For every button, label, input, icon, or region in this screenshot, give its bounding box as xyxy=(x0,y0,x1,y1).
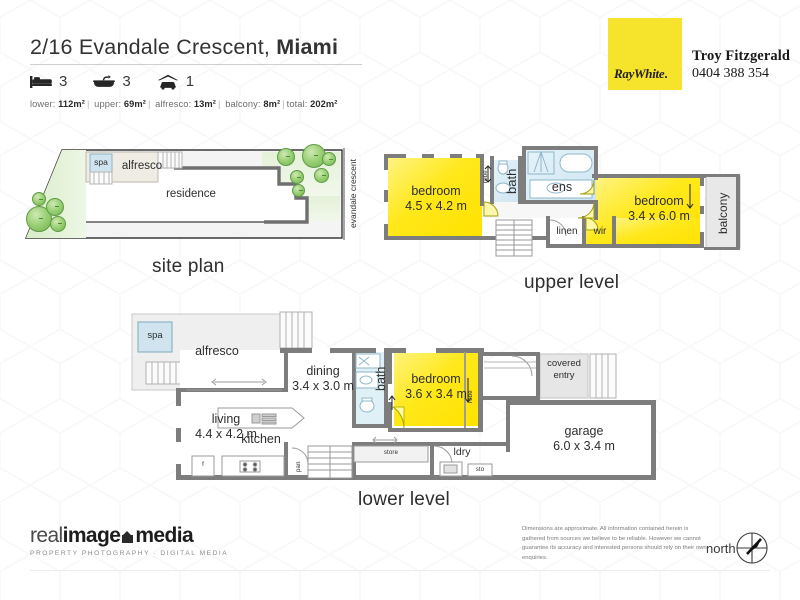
lower-level-caption: lower level xyxy=(358,489,450,511)
feature-carspaces: 1 xyxy=(157,73,194,90)
wir-label: wir xyxy=(584,226,616,238)
dining-label: dining 3.4 x 3.0 m xyxy=(288,364,358,394)
upper-bedroom-second-name: bedroom xyxy=(634,194,683,208)
tree-icon xyxy=(50,216,66,232)
upper-bedroom-main-label: bedroom 4.5 x 4.2 m xyxy=(396,184,476,214)
raywhite-logo-text: RayWhite. xyxy=(614,66,667,82)
photographer-logo: realimagemedia PROPERTY PHOTOGRAPHY · DI… xyxy=(30,525,228,557)
dining-name: dining xyxy=(306,364,339,378)
upper-bedroom-second-dims: 3.4 x 6.0 m xyxy=(628,209,690,223)
raywhite-wordmark: RayWhite xyxy=(614,66,664,81)
feature-bedrooms: 3 xyxy=(30,73,67,90)
tree-icon xyxy=(290,170,304,184)
garage-label: garage 6.0 x 3.4 m xyxy=(540,424,628,454)
feature-icons: 3 3 1 xyxy=(30,72,370,92)
upper-bedroom-main-dims: 4.5 x 4.2 m xyxy=(405,199,467,213)
floorplan-page: 2/16 Evandale Crescent, Miami 3 xyxy=(0,0,800,600)
kitchen-label: kitchen xyxy=(226,432,296,447)
linen-label: linen xyxy=(548,226,586,238)
store-small-label: sto xyxy=(468,467,492,474)
disclaimer-text: Dimensions are approximate. All informat… xyxy=(522,525,712,563)
lower-spa-label: spa xyxy=(138,330,172,341)
covered-entry-line1: covered xyxy=(547,358,581,369)
bathrooms-count: 3 xyxy=(122,73,130,90)
upper-bath-label: bath xyxy=(504,160,518,202)
dining-dims: 3.4 x 3.0 m xyxy=(292,379,354,393)
store-label: store xyxy=(354,450,428,457)
balcony-label: balcony xyxy=(716,182,730,244)
north-indicator: north xyxy=(706,530,770,566)
area-alfresco-label: alfresco: xyxy=(155,99,191,109)
logo-image: image xyxy=(63,524,121,547)
tree-icon xyxy=(32,192,46,206)
tree-icon xyxy=(46,198,64,216)
site-room-residence: residence xyxy=(156,188,226,202)
area-balcony-label: balcony: xyxy=(225,99,260,109)
upper-level-plan: bedroom 4.5 x 4.2 m bedroom 3.4 x 6.0 m … xyxy=(378,140,768,270)
area-upper-label: upper: xyxy=(94,99,121,109)
carspaces-count: 1 xyxy=(186,73,194,90)
upper-bedroom-main-name: bedroom xyxy=(411,184,460,198)
lower-level-drawing xyxy=(116,306,666,486)
tree-icon xyxy=(292,184,305,197)
footer-divider xyxy=(30,570,770,571)
fridge-label: f xyxy=(192,462,214,469)
street-label-evandale: evandale crescent xyxy=(348,146,358,242)
site-plan: spa alfresco residence evandale crescent xyxy=(24,140,364,250)
title-divider xyxy=(30,64,362,65)
realimage-media-wordmark: realimagemedia xyxy=(30,525,228,546)
site-room-spa: spa xyxy=(90,157,112,167)
area-total-label: total: xyxy=(287,99,308,109)
agent-name: Troy Fitzgerald xyxy=(692,48,790,65)
raywhite-logo-dot: . xyxy=(664,66,667,81)
covered-entry-label: covered entry xyxy=(538,358,590,383)
area-sep-3: | xyxy=(216,99,223,109)
garage-name: garage xyxy=(565,424,604,438)
bathtub-icon xyxy=(93,74,115,89)
photographer-tagline: PROPERTY PHOTOGRAPHY · DIGITAL MEDIA xyxy=(30,550,228,557)
logo-media: media xyxy=(135,524,193,547)
upper-level-caption: upper level xyxy=(524,272,619,294)
covered-entry-line2: entry xyxy=(553,370,574,381)
site-plan-caption: site plan xyxy=(152,256,225,278)
lower-bedroom-label: bedroom 3.6 x 3.4 m xyxy=(400,372,472,402)
area-total-value: 202m² xyxy=(310,99,337,109)
ensuite-label: ens xyxy=(542,180,582,195)
page-title: 2/16 Evandale Crescent, Miami xyxy=(30,36,370,60)
area-upper-value: 69m² xyxy=(124,99,146,109)
bedrooms-count: 3 xyxy=(59,73,67,90)
lower-bedroom-dims: 3.6 x 3.4 m xyxy=(405,387,467,401)
lower-bath-label: bath xyxy=(374,356,388,402)
tree-icon xyxy=(314,168,329,183)
address-suburb: Miami xyxy=(276,35,338,59)
garage-dims: 6.0 x 3.4 m xyxy=(553,439,615,453)
car-garage-icon xyxy=(157,74,179,90)
area-lower-label: lower: xyxy=(30,99,55,109)
lower-robe-label: robe xyxy=(468,386,478,408)
area-lower-value: 112m² xyxy=(58,99,85,109)
bed-icon xyxy=(30,75,52,89)
area-alfresco-value: 13m² xyxy=(194,99,216,109)
site-room-alfresco: alfresco xyxy=(114,160,170,174)
agent-phone: 0404 388 354 xyxy=(692,65,790,83)
agent-details: Troy Fitzgerald 0404 388 354 xyxy=(692,18,790,82)
area-balcony-value: 8m² xyxy=(263,99,280,109)
address-street: 2/16 Evandale Crescent, xyxy=(30,35,276,59)
raywhite-logo: RayWhite. xyxy=(608,18,682,90)
tree-icon xyxy=(277,148,295,166)
agency-branding: RayWhite. Troy Fitzgerald 0404 388 354 xyxy=(608,18,790,90)
upper-bedroom-second-label: bedroom 3.4 x 6.0 m xyxy=(618,194,700,224)
living-name: living xyxy=(212,412,241,426)
area-summary: lower: 112m²| upper: 69m²| alfresco: 13m… xyxy=(30,99,370,109)
north-label: north xyxy=(706,541,736,556)
feature-bathrooms: 3 xyxy=(93,73,130,90)
house-dot-icon xyxy=(122,531,133,543)
property-header: 2/16 Evandale Crescent, Miami 3 xyxy=(30,36,370,109)
pantry-label: pan xyxy=(296,458,306,476)
area-sep-1: | xyxy=(85,99,92,109)
lower-level-plan: spa alfresco dining 3.4 x 3.0 m bath bed… xyxy=(116,306,666,486)
upper-robe-label: robe xyxy=(483,166,493,188)
tree-icon xyxy=(322,152,336,166)
lower-bedroom-name: bedroom xyxy=(411,372,460,386)
laundry-label: ldry xyxy=(442,446,482,458)
lower-alfresco-label: alfresco xyxy=(182,344,252,359)
area-sep-2: | xyxy=(146,99,153,109)
logo-real: real xyxy=(30,524,63,547)
compass-icon xyxy=(734,530,770,566)
